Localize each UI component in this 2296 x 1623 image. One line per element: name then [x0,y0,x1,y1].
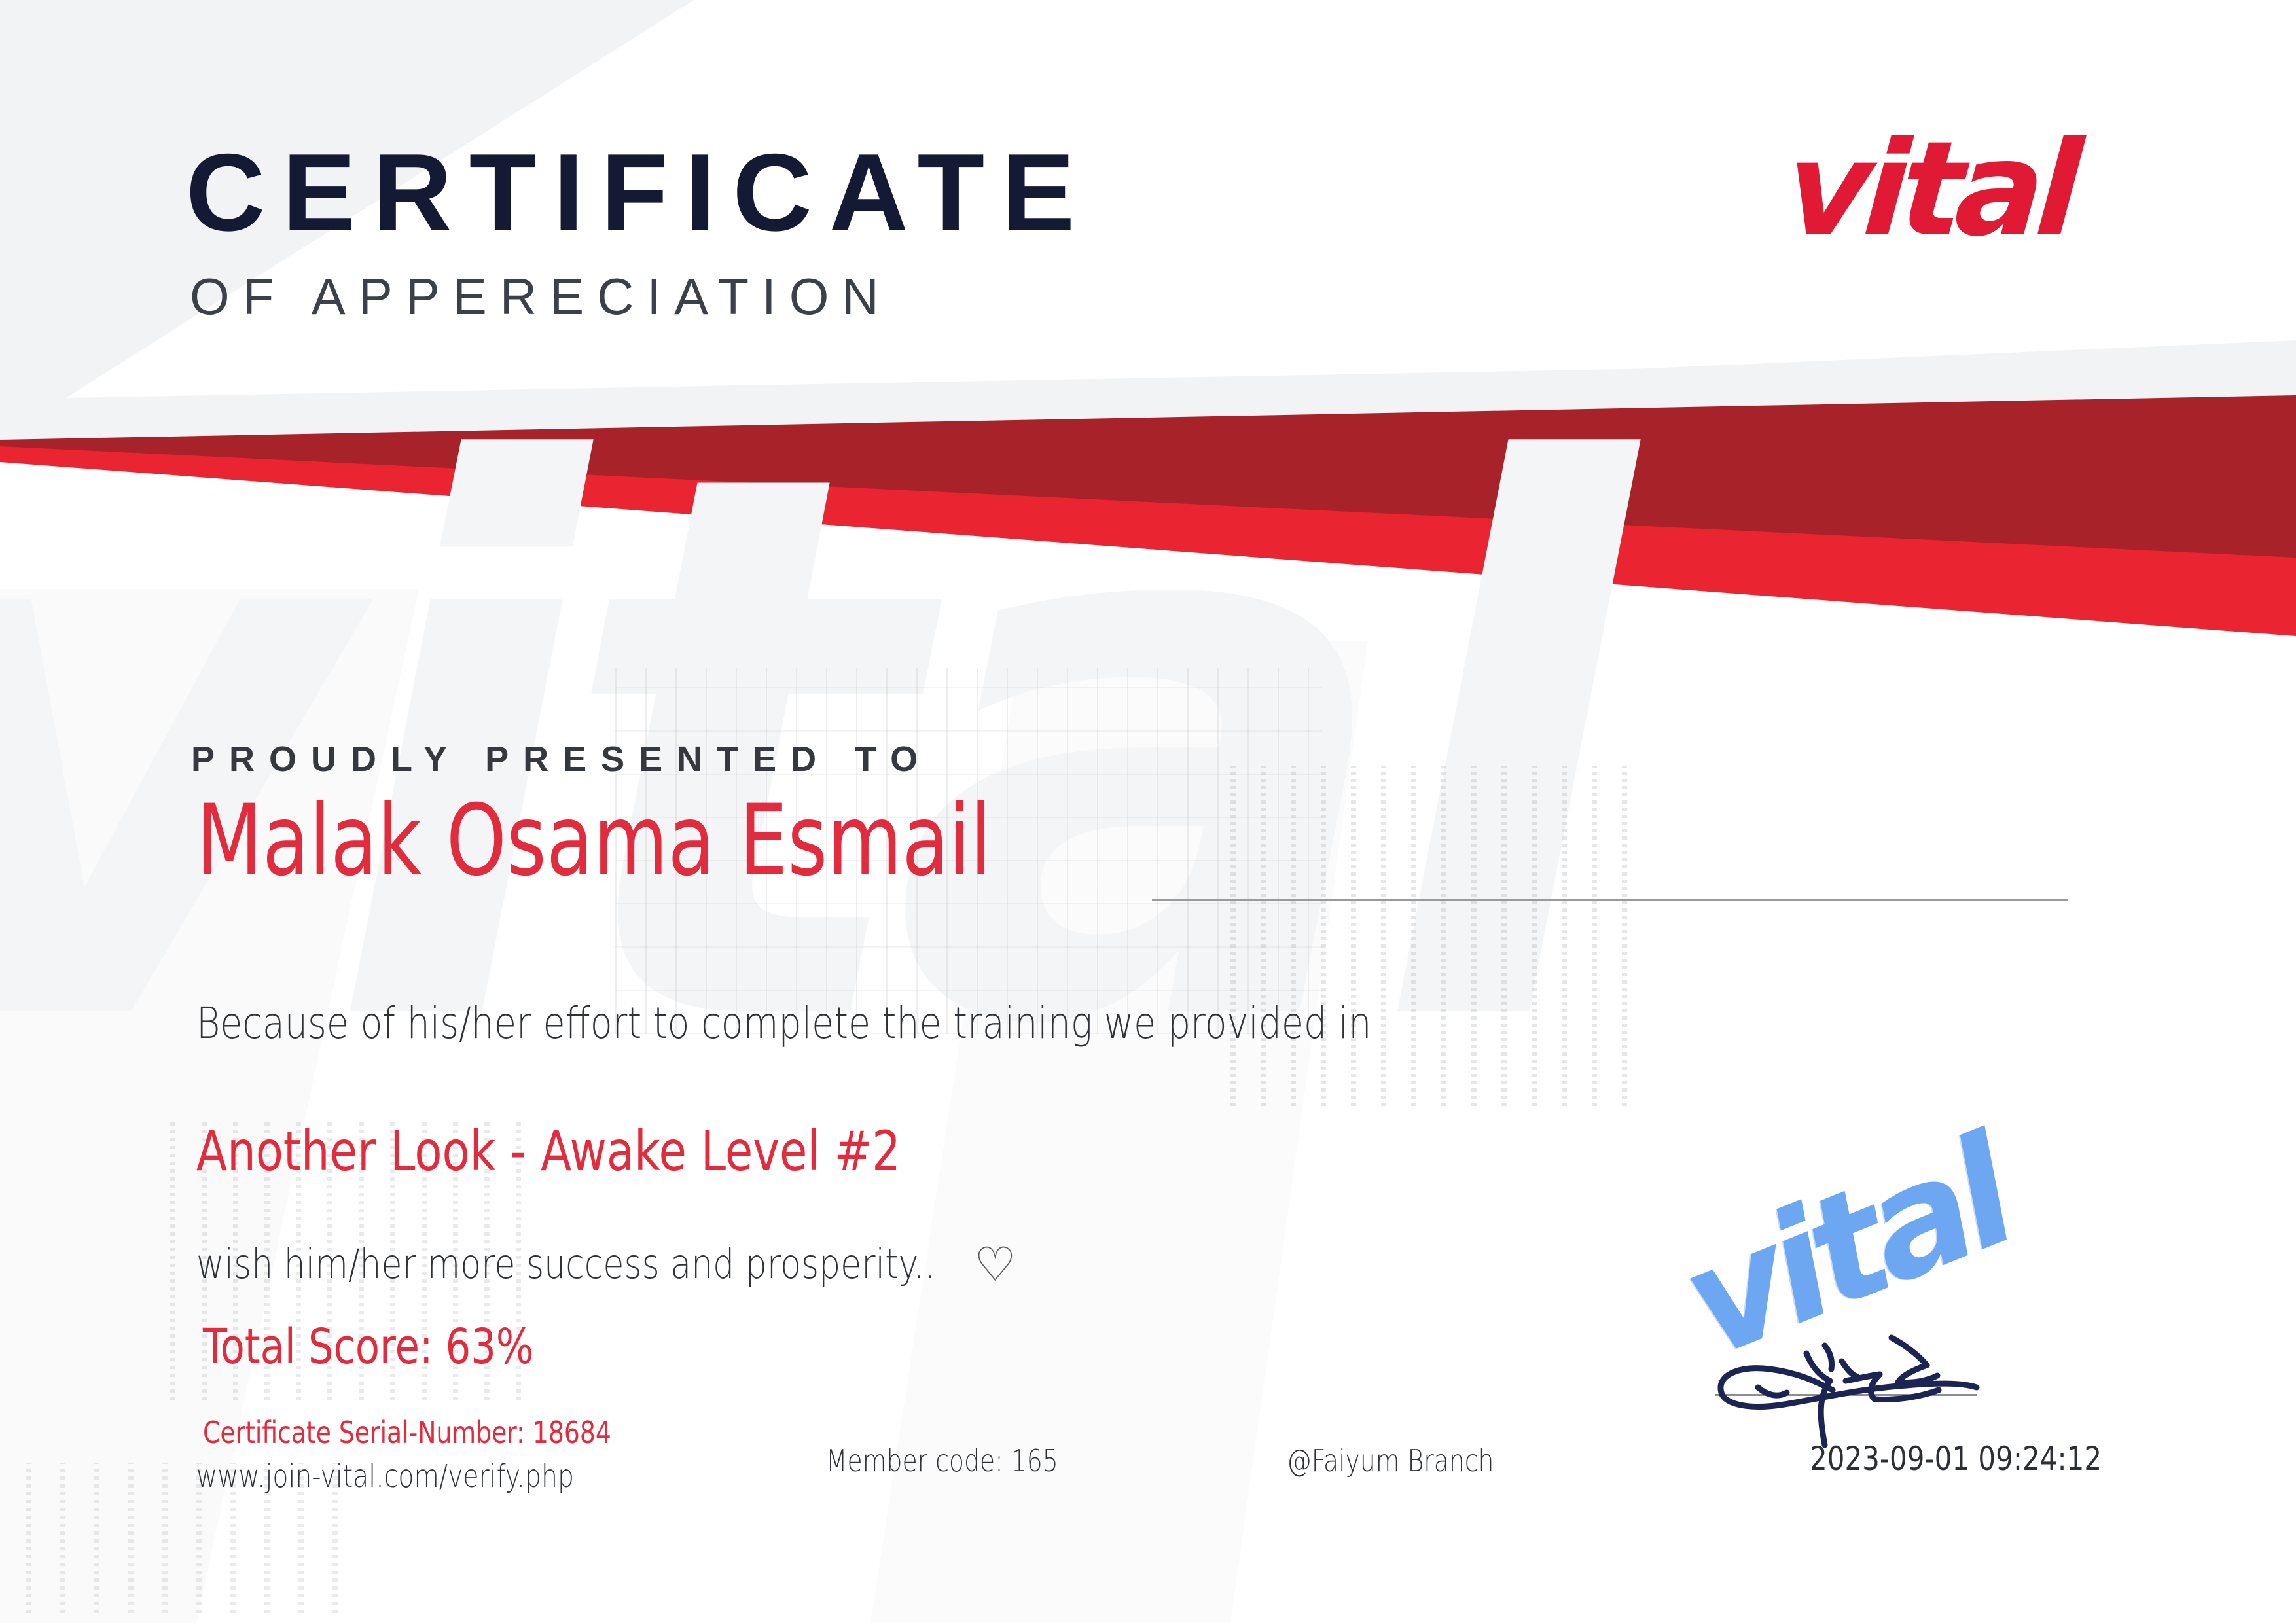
verify-url-link[interactable]: www.join-vital.com/verify.php [196,1458,574,1495]
signature-stamp: vital [1702,1204,2173,1479]
recipient-name-rule [1152,899,2068,901]
body-text-after-course-row: wish him/her more success and prosperity… [196,1240,1016,1288]
page-subtitle: OF APPERECIATION [190,271,1092,322]
signature-line [1715,1394,1977,1396]
dot-texture-upper-right [1230,766,1636,1106]
certificate-page: vital CERTIFICATE OF APPERECIATION vital… [0,0,2296,1623]
vital-logo: vital [1782,124,2078,255]
total-score: Total Score: 63% [203,1319,534,1375]
course-title: Another Look - Awake Level #2 [196,1119,901,1183]
vital-stamp-text: vital [1665,1118,2026,1381]
branch-name: @Faiyum Branch [1287,1443,1494,1478]
body-text-after-course: wish him/her more success and prosperity… [196,1240,935,1288]
body-text-before-course: Because of his/her effort to complete th… [196,998,1371,1048]
presented-to-label: PROUDLY PRESENTED TO [191,739,932,779]
handwritten-signature [1702,1283,2068,1453]
recipient-name: Malak Osama Esmail [196,792,992,890]
issue-timestamp: 2023-09-01 09:24:12 [1810,1440,2102,1478]
header: CERTIFICATE OF APPERECIATION [186,137,1092,322]
certificate-serial-number: Certificate Serial-Number: 18684 [203,1415,611,1450]
member-code: Member code: 165 [826,1443,1058,1478]
page-title: CERTIFICATE [186,137,1092,247]
heart-icon: ♡ [974,1241,1016,1288]
